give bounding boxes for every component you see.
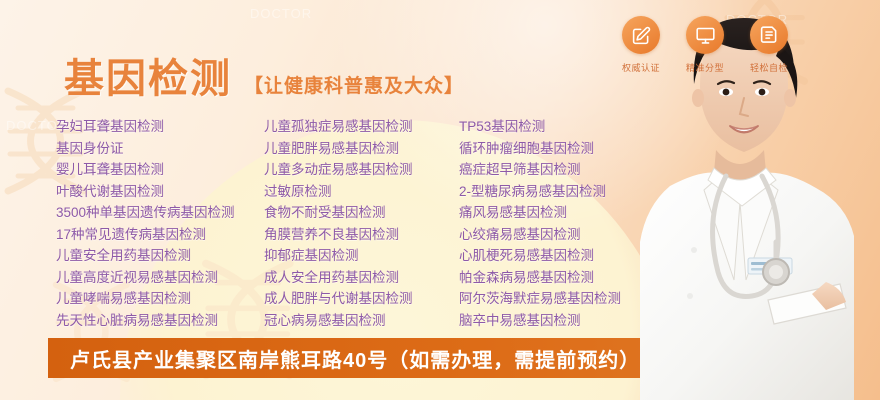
badge-authority-certification[interactable]: 权威认证 (616, 16, 666, 74)
list-item[interactable]: 冠心病易感基因检测 (264, 310, 459, 332)
page-subtitle: 【让健康科普惠及大众】 (244, 71, 464, 98)
page-title: 基因检测 (64, 46, 232, 104)
gene-testing-poster: DOCTOR DOCTOR DOCTOR 基因检测 【让健康科普惠及大众】 权威… (0, 0, 880, 400)
feature-badges: 权威认证 精准分型 轻松自检 (616, 16, 794, 74)
list-item[interactable]: 孕妇耳聋基因检测 (56, 116, 264, 138)
list-item[interactable]: 儿童孤独症易感基因检测 (264, 116, 459, 138)
list-item[interactable]: 儿童哮喘易感基因检测 (56, 288, 264, 310)
list-item[interactable]: 17种常见遗传病基因检测 (56, 224, 264, 246)
watermark-text: DOCTOR (250, 6, 312, 21)
badge-label: 轻松自检 (750, 61, 788, 74)
list-item[interactable]: 婴儿耳聋基因检测 (56, 159, 264, 181)
list-item[interactable]: 成人肥胖与代谢基因检测 (264, 288, 459, 310)
list-item[interactable]: 先天性心脏病易感基因检测 (56, 310, 264, 332)
list-item[interactable]: 成人安全用药基因检测 (264, 267, 459, 289)
address-text: 卢氏县产业集聚区南岸熊耳路40号（如需办理，需提前预约） (70, 344, 640, 373)
list-item[interactable]: 基因身份证 (56, 138, 264, 160)
edit-square-icon (622, 16, 660, 54)
badge-easy-self-check[interactable]: 轻松自检 (744, 16, 794, 74)
list-item[interactable]: 抑郁症基因检测 (264, 245, 459, 267)
list-item[interactable]: 食物不耐受基因检测 (264, 202, 459, 224)
badge-label: 权威认证 (622, 61, 660, 74)
list-item[interactable]: 过敏原检测 (264, 181, 459, 203)
test-column-2: 儿童孤独症易感基因检测 儿童肥胖易感基因检测 儿童多动症易感基因检测 过敏原检测… (264, 116, 459, 331)
list-item[interactable]: 角膜营养不良基因检测 (264, 224, 459, 246)
badge-precise-typing[interactable]: 精准分型 (680, 16, 730, 74)
badge-label: 精准分型 (686, 61, 724, 74)
list-item[interactable]: 叶酸代谢基因检测 (56, 181, 264, 203)
list-item[interactable]: 3500种单基因遗传病基因检测 (56, 202, 264, 224)
monitor-icon (686, 16, 724, 54)
list-item[interactable]: 儿童多动症易感基因检测 (264, 159, 459, 181)
document-icon (750, 16, 788, 54)
poster-heading: 基因检测 【让健康科普惠及大众】 (64, 46, 464, 104)
list-item[interactable]: 儿童高度近视易感基因检测 (56, 267, 264, 289)
test-list-columns: 孕妇耳聋基因检测 基因身份证 婴儿耳聋基因检测 叶酸代谢基因检测 3500种单基… (56, 116, 679, 331)
test-column-1: 孕妇耳聋基因检测 基因身份证 婴儿耳聋基因检测 叶酸代谢基因检测 3500种单基… (56, 116, 264, 331)
list-item[interactable]: 儿童肥胖易感基因检测 (264, 138, 459, 160)
list-item[interactable]: 儿童安全用药基因检测 (56, 245, 264, 267)
